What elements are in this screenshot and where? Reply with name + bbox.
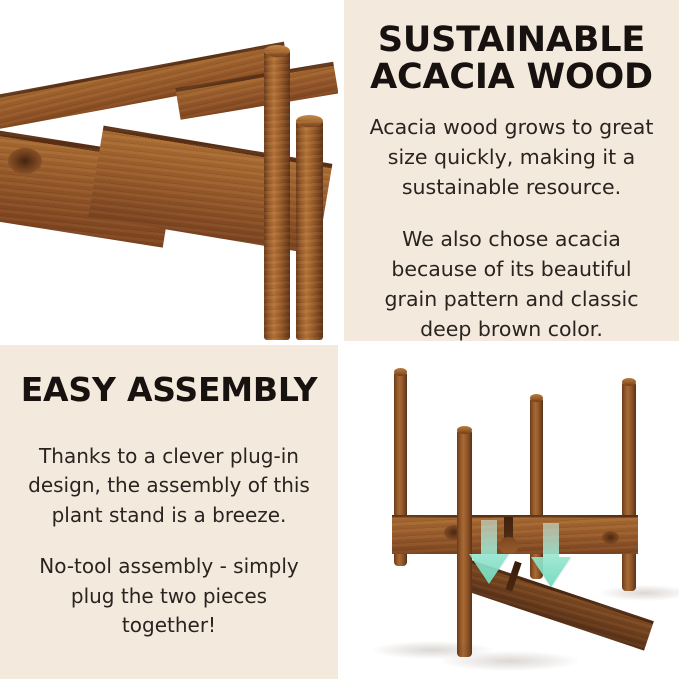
stand-leg-front [296, 120, 323, 340]
panel-photo-joint [0, 0, 338, 341]
wood-grain-texture [296, 120, 323, 340]
easy-assembly-paragraph-2: No-tool assembly - simply plug the two p… [0, 552, 338, 640]
easy-assembly-heading: EASY ASSEMBLY [0, 373, 338, 408]
leg-cap-icon [296, 115, 323, 127]
heading-line-1: SUSTAINABLE [378, 20, 645, 60]
wood-grain-texture [264, 50, 290, 340]
leg-cap-icon [394, 368, 407, 376]
down-arrow-icon-left [468, 520, 510, 586]
wood-knot-detail [602, 531, 619, 544]
wood-joint-photo [0, 0, 338, 341]
down-arrow-icon-right [530, 523, 572, 589]
assembly-leg-4 [622, 381, 636, 591]
panel-easy-assembly: EASY ASSEMBLY Thanks to a clever plug-in… [0, 345, 338, 679]
easy-assembly-paragraph-1: Thanks to a clever plug-in design, the a… [0, 442, 338, 530]
sustainable-wood-paragraph-1: Acacia wood grows to great size quickly,… [344, 112, 679, 202]
leg-cap-icon [530, 394, 543, 402]
panel-sustainable-wood: SUSTAINABLE ACACIA WOOD Acacia wood grow… [344, 0, 679, 341]
stand-leg-back [264, 50, 290, 340]
contact-shadow [440, 651, 580, 671]
leg-cap-icon [264, 45, 290, 57]
heading-line-2: ACACIA WOOD [370, 57, 653, 97]
contact-shadow [600, 585, 679, 601]
leg-cap-icon [622, 378, 636, 386]
product-infographic: SUSTAINABLE ACACIA WOOD Acacia wood grow… [0, 0, 679, 679]
wood-knot-detail [8, 148, 42, 174]
sustainable-wood-heading: SUSTAINABLE ACACIA WOOD [344, 22, 679, 96]
sustainable-wood-paragraph-2: We also chose acacia because of its beau… [344, 224, 679, 341]
leg-cap-icon [457, 426, 472, 434]
panel-photo-assembly [344, 345, 679, 679]
assembly-diagram-photo [344, 345, 679, 679]
